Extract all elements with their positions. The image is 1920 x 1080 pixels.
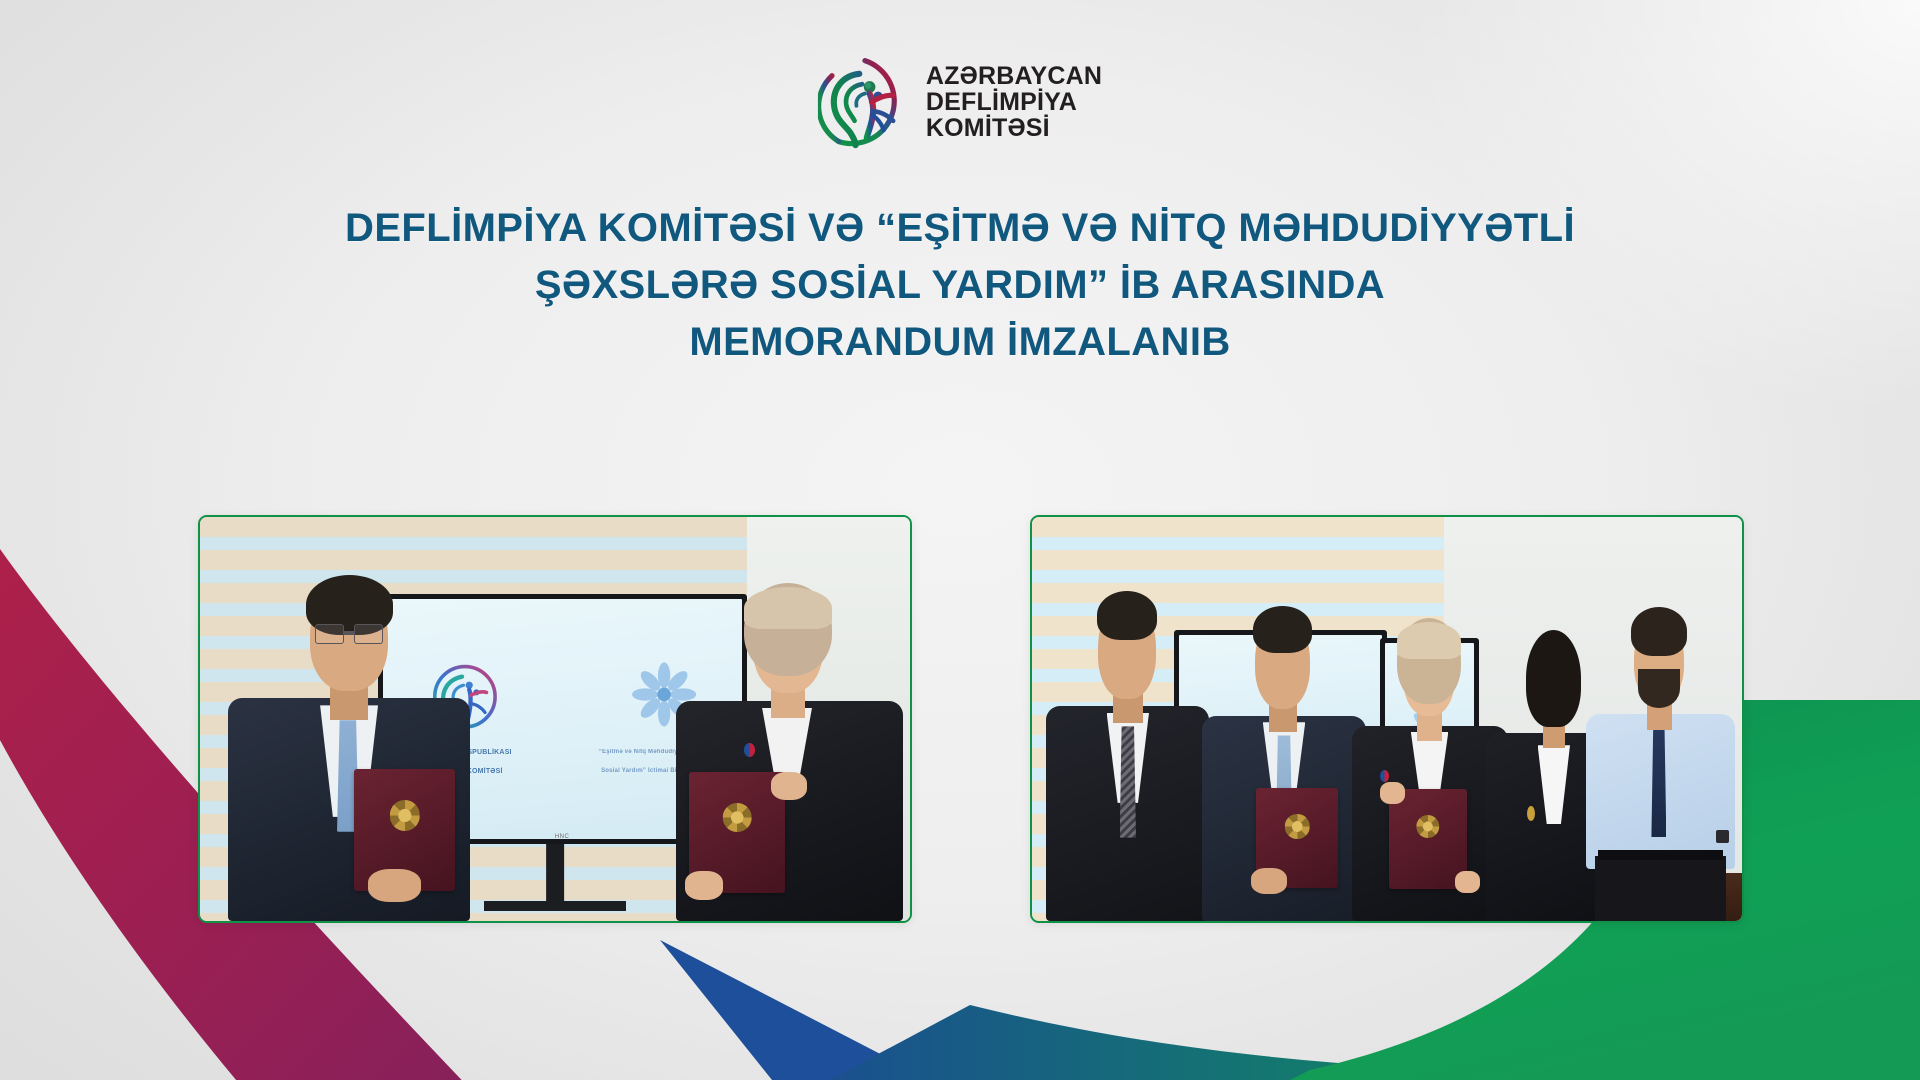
p5-trousers: [1595, 856, 1726, 921]
p2-hair: [1253, 606, 1312, 652]
folder-state-emblem-icon: [1285, 814, 1309, 838]
folder-state-emblem-icon: [723, 803, 752, 832]
p3-hand-lower: [1455, 871, 1480, 893]
person-5-light-blue-shirt: [1586, 598, 1735, 921]
brand-name-line-3: KOMİTƏSİ: [926, 115, 1102, 141]
brand-name-text: AZƏRBAYCAN DEFLİMPİYA KOMİTƏSİ: [926, 63, 1102, 141]
man-hand: [368, 869, 421, 902]
brand-name-line-2: DEFLİMPİYA: [926, 89, 1102, 115]
p5-hair: [1631, 607, 1688, 655]
photo-card-signing-ceremony[interactable]: ...CAN RESPUBLİKASI ...PİYA KOMİTƏSİ: [198, 515, 912, 923]
monitor-brand-label: HNC: [555, 834, 570, 839]
blue-wedge-bottom-right: [1740, 1010, 1920, 1080]
folder-state-emblem-icon: [1416, 815, 1439, 838]
photo-card-group-photo[interactable]: [1030, 515, 1744, 923]
p4-lapel-pin: [1527, 806, 1535, 821]
p1-hair: [1097, 591, 1157, 640]
monitor-stand-base: [484, 901, 626, 911]
person-woman-black-blazer: [676, 565, 903, 921]
woman-hand-lower: [685, 871, 724, 899]
man-glasses-right-lens-icon: [354, 624, 383, 644]
page-title-line-1: DEFLİMPİYA KOMİTƏSİ VƏ “EŞİTMƏ VƏ NİTQ M…: [120, 200, 1800, 257]
woman-hair-front: [744, 587, 833, 630]
folder-state-emblem-icon: [389, 800, 419, 830]
p3-burgundy-folder: [1389, 789, 1467, 890]
p5-belt: [1598, 850, 1723, 860]
p5-beard: [1638, 669, 1680, 708]
man-glasses-bridge: [344, 631, 354, 635]
blue-green-gradient-band-bottom: [820, 1005, 1920, 1080]
brand-logo-lockup: AZƏRBAYCAN DEFLİMPİYA KOMİTƏSİ: [818, 55, 1102, 149]
poster-canvas: AZƏRBAYCAN DEFLİMPİYA KOMİTƏSİ DEFLİMPİY…: [0, 0, 1920, 1080]
p3-hair-front: [1397, 622, 1461, 660]
person-man-with-glasses: [228, 549, 469, 921]
p5-watch: [1716, 830, 1729, 843]
p4-hair: [1526, 630, 1581, 727]
page-title-line-2: ŞƏXSLƏRƏ SOSİAL YARDIM” İB ARASINDA: [120, 257, 1800, 314]
person-2-navy-suit: [1202, 590, 1365, 921]
azerbaijan-deaflympics-emblem-icon: [818, 55, 912, 149]
woman-hand-upper: [771, 772, 807, 800]
person-3-blonde-woman: [1352, 606, 1508, 921]
p1-patterned-tie: [1120, 726, 1136, 837]
blue-wedge-bottom-center: [660, 940, 1080, 1080]
p2-hand: [1251, 868, 1287, 895]
page-title: DEFLİMPİYA KOMİTƏSİ VƏ “EŞİTMƏ VƏ NİTQ M…: [0, 200, 1920, 370]
p3-hand-upper: [1380, 782, 1405, 804]
photo-left-scene: ...CAN RESPUBLİKASI ...PİYA KOMİTƏSİ: [200, 517, 910, 921]
monitor-stand-pole: [546, 844, 564, 905]
p5-navy-tie: [1651, 727, 1666, 837]
person-1-dark-suit: [1046, 574, 1209, 921]
man-glasses-icon: [315, 624, 344, 644]
page-title-line-3: MEMORANDUM İMZALANIB: [120, 314, 1800, 371]
brand-name-line-1: AZƏRBAYCAN: [926, 63, 1102, 89]
photo-right-scene: [1032, 517, 1742, 921]
